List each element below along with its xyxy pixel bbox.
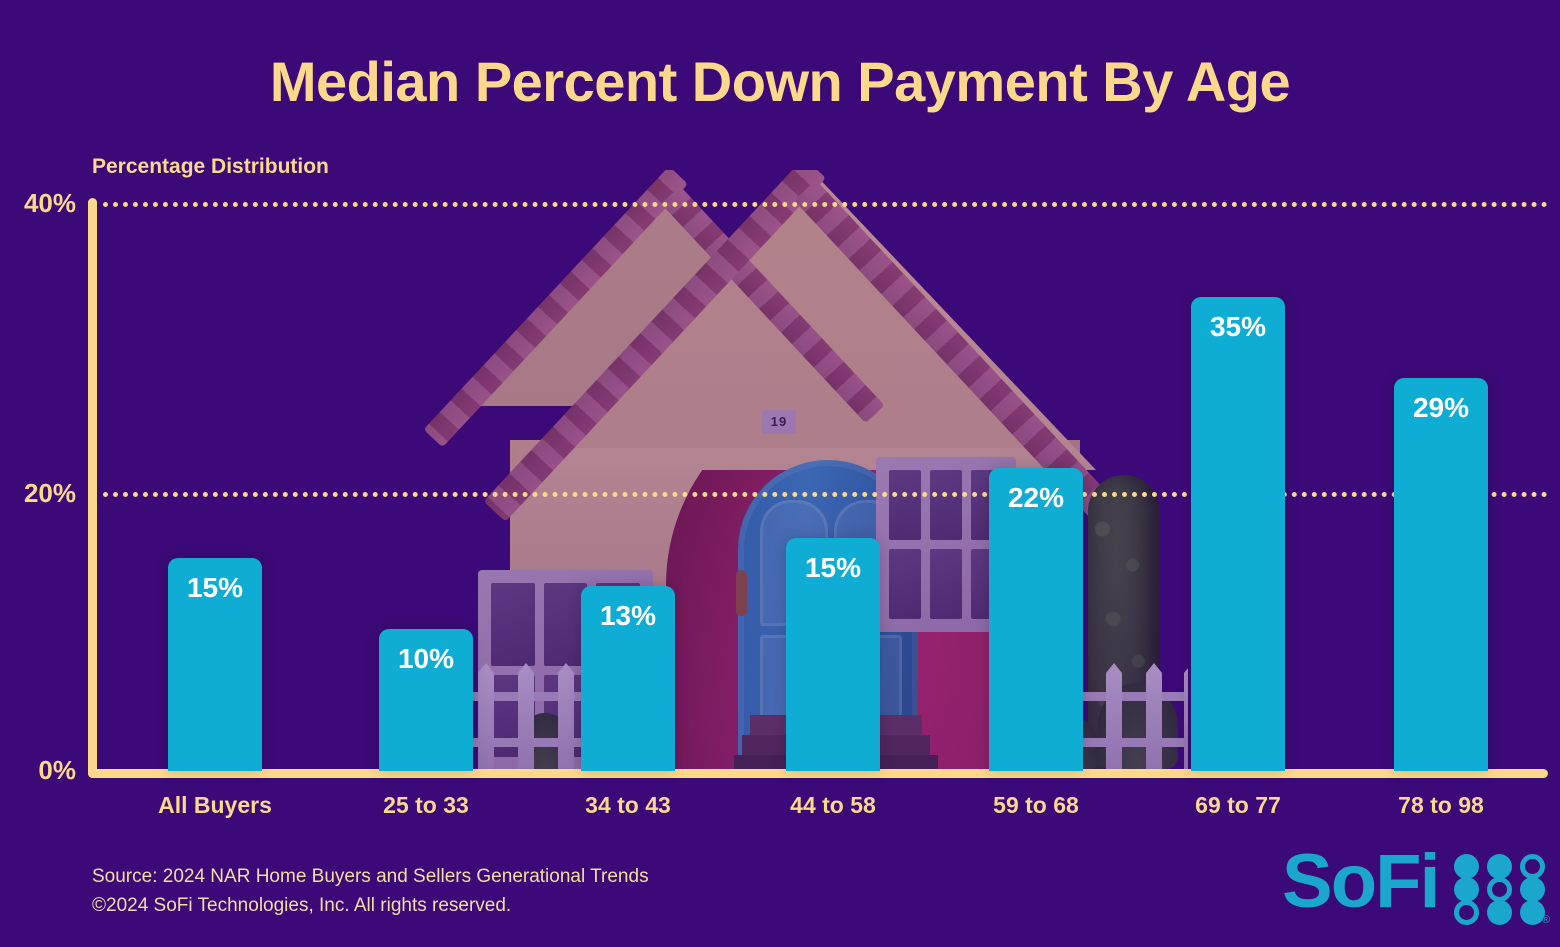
y-tick-label-20: 20%: [0, 478, 76, 509]
bar-value-label: 10%: [379, 643, 473, 675]
source-line-2: ©2024 SoFi Technologies, Inc. All rights…: [92, 891, 649, 920]
bar-25-to-33[interactable]: 10%: [379, 629, 473, 771]
source-note: Source: 2024 NAR Home Buyers and Sellers…: [92, 862, 649, 920]
sofi-logo: SoFi ®: [1282, 840, 1547, 935]
registered-mark: ®: [1542, 914, 1550, 926]
sofi-dot-grid-icon: ®: [1454, 854, 1546, 924]
bar-69-to-77[interactable]: 35%: [1191, 297, 1285, 771]
y-tick-label-0: 0%: [0, 755, 76, 786]
x-tick-all-buyers: All Buyers: [115, 792, 315, 819]
bar-value-label: 22%: [989, 482, 1083, 514]
bar-value-label: 29%: [1394, 392, 1488, 424]
x-tick-44-to-58: 44 to 58: [733, 792, 933, 819]
bar-chart: 40% 20% 0% 15% 10% 13% 15% 22% 35% 29% A…: [0, 0, 1560, 947]
sofi-wordmark: SoFi: [1282, 836, 1439, 928]
bar-59-to-68[interactable]: 22%: [989, 468, 1083, 771]
bar-44-to-58[interactable]: 15%: [786, 538, 880, 771]
bar-34-to-43[interactable]: 13%: [581, 586, 675, 771]
x-tick-59-to-68: 59 to 68: [936, 792, 1136, 819]
gridline-20: [103, 492, 1548, 497]
bar-value-label: 15%: [168, 572, 262, 604]
y-tick-label-40: 40%: [0, 188, 76, 219]
x-tick-69-to-77: 69 to 77: [1138, 792, 1338, 819]
infographic-canvas: 19: [0, 0, 1560, 947]
gridline-40: [103, 202, 1548, 207]
bar-value-label: 35%: [1191, 311, 1285, 343]
y-axis-line: [88, 198, 97, 778]
bar-value-label: 13%: [581, 600, 675, 632]
x-tick-25-to-33: 25 to 33: [326, 792, 526, 819]
x-tick-78-to-98: 78 to 98: [1341, 792, 1541, 819]
bar-78-to-98[interactable]: 29%: [1394, 378, 1488, 771]
source-line-1: Source: 2024 NAR Home Buyers and Sellers…: [92, 862, 649, 891]
bar-value-label: 15%: [786, 552, 880, 584]
x-tick-34-to-43: 34 to 43: [528, 792, 728, 819]
bar-all-buyers[interactable]: 15%: [168, 558, 262, 771]
